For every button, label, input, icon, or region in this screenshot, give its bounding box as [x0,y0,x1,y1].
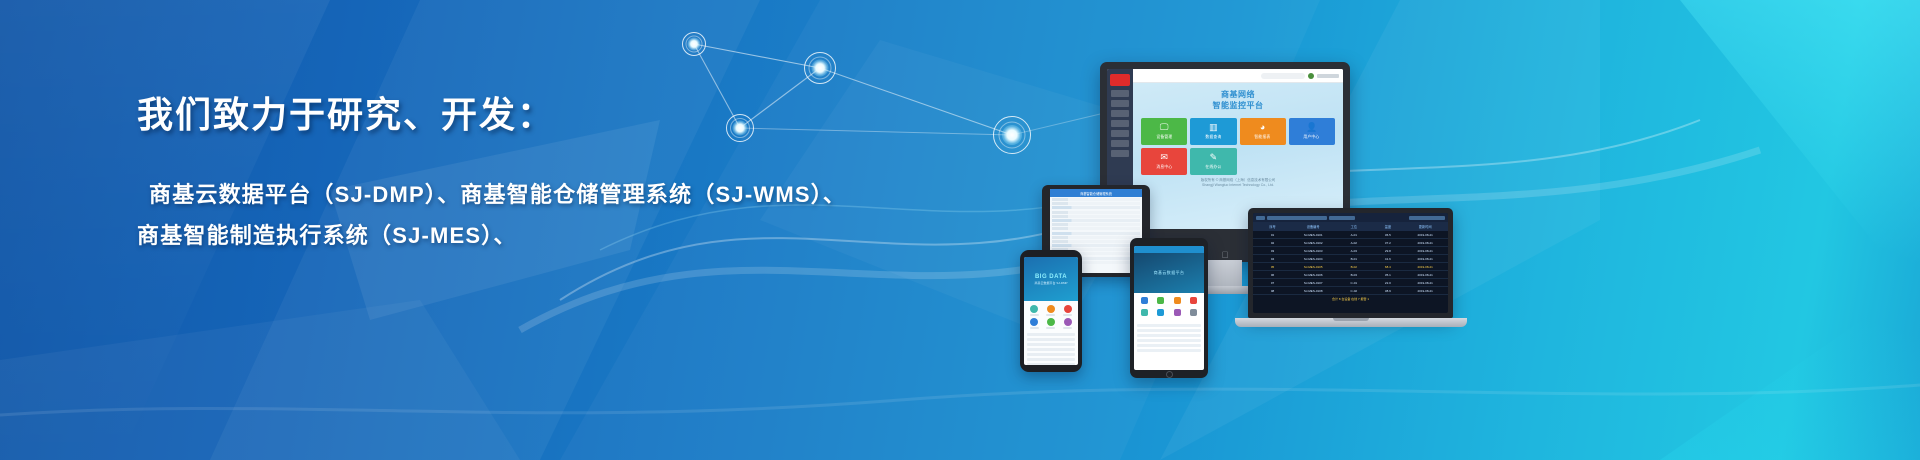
cell: 2019-08-21 [1405,265,1445,269]
search-input[interactable] [1261,73,1305,79]
cell: 2019-08-21 [1405,289,1445,293]
sidebar-item[interactable] [1111,110,1129,117]
phone-hero-title: BIG DATA [1035,274,1067,280]
phone-shortcut[interactable] [1027,318,1042,329]
phone-shortcut[interactable] [1027,305,1042,316]
mail-icon: ✉ [1160,153,1168,162]
tablet-portrait-mockup: 商基云数据平台 [1130,238,1208,378]
cell: B-01 [1337,257,1370,261]
imac-hero-title-line1: 商基网络 [1141,89,1335,100]
cell: C-01 [1337,281,1370,285]
sidebar-item[interactable] [1111,90,1129,97]
tablet-portrait-screen: 商基云数据平台 [1134,246,1204,370]
tile-data-query[interactable]: ▥ 数据查询 [1190,118,1236,145]
tile-label: 用户中心 [1304,134,1320,140]
list-item[interactable] [1027,363,1075,365]
phone-shortcut[interactable] [1044,305,1059,316]
cell: 41.6 [1371,257,1404,261]
tile-label: 在线办公 [1205,164,1221,170]
cell: A-01 [1337,233,1370,237]
cell: SJ-MES-0105 [1290,265,1336,269]
cell: B-03 [1337,273,1370,277]
table-row[interactable]: 07 SJ-MES-0107 C-01 22.0 2019-08-21 [1253,279,1448,287]
list-item[interactable] [1052,202,1140,205]
tile-message-center[interactable]: ✉ 消息中心 [1141,148,1187,175]
tile-label: 智能报表 [1255,134,1271,140]
cell: A-03 [1337,249,1370,253]
list-item[interactable] [1052,227,1140,230]
tablet-landscape-titlebar: 商基智能仓储管理系统 [1050,189,1142,197]
laptop-trackpad-notch [1333,318,1369,321]
cell: 36.5 [1371,233,1404,237]
tile-smart-report[interactable]: ◕ 智能报表 [1240,118,1286,145]
cell: 2019-08-21 [1405,257,1445,261]
cell: C-02 [1337,289,1370,293]
tile-label: 设备管理 [1156,134,1172,140]
list-item[interactable] [1052,232,1140,235]
cell: 05 [1256,265,1289,269]
tablet-shortcut[interactable] [1187,309,1202,319]
cell: SJ-MES-0108 [1290,289,1336,293]
column-header: 更新时间 [1405,224,1445,229]
phone-hero-subtitle: 商基云数据平台 SJ-DMP [1034,281,1067,285]
cell: 38.9 [1371,289,1404,293]
table-row[interactable]: 02 SJ-MES-0102 A-02 37.2 2019-08-21 [1253,239,1448,247]
laptop-status-note: 合计 8 台设备 在线 7 报警 1 [1253,295,1448,303]
imac-footer-line2: Shangji Wangluo Internet Technology Co.,… [1141,183,1335,188]
cell: 04 [1256,257,1289,261]
tile-device-management[interactable]: 🖵 设备管理 [1141,118,1187,145]
imac-topbar [1133,69,1343,83]
laptop-titlebar [1253,213,1448,222]
list-item[interactable] [1137,349,1201,352]
list-item[interactable] [1137,339,1201,342]
tablet-portrait-topbar [1134,246,1204,253]
phone-list [1024,333,1078,365]
table-row[interactable]: 05 SJ-MES-0105 B-02 68.4 2019-08-21 [1253,263,1448,271]
tablet-shortcut[interactable] [1170,297,1185,307]
sidebar-item[interactable] [1111,120,1129,127]
cell: 07 [1256,281,1289,285]
list-item[interactable] [1052,206,1140,209]
product-line-1: 商基云数据平台（SJ-DMP）、商基智能仓储管理系统（SJ-WMS）、 [137,174,846,215]
cell: 2019-08-21 [1405,273,1445,277]
page-title: 我们致力于研究、开发： [137,92,846,137]
phone-shortcut[interactable] [1060,305,1075,316]
device-mockup-cluster: 商基网络 智能监控平台 🖵 设备管理 ▥ 数据查询 [1000,40,1560,460]
tablet-shortcut[interactable] [1154,309,1169,319]
list-item[interactable] [1137,324,1201,327]
phone-shortcut[interactable] [1060,318,1075,329]
cell: SJ-MES-0102 [1290,241,1336,245]
list-item[interactable] [1027,358,1075,361]
sidebar-item[interactable] [1111,100,1129,107]
tablet-home-button[interactable] [1166,371,1173,378]
tablet-portrait-body: 商基云数据平台 [1130,238,1208,378]
tile-label: 数据查询 [1205,134,1221,140]
phone-mockup: BIG DATA 商基云数据平台 SJ-DMP [1020,250,1082,372]
imac-stand-neck [1208,260,1242,288]
list-item[interactable] [1052,223,1140,226]
list-item[interactable] [1137,329,1201,332]
product-list: 商基云数据平台（SJ-DMP）、商基智能仓储管理系统（SJ-WMS）、 商基智能… [137,174,846,256]
list-item[interactable] [1027,333,1075,336]
sidebar-item[interactable] [1111,140,1129,147]
cell: 22.0 [1371,281,1404,285]
edit-icon: ✎ [1210,153,1218,162]
table-row[interactable]: 08 SJ-MES-0108 C-02 38.9 2019-08-21 [1253,287,1448,295]
bg-facet-4 [0,300,520,460]
cell: A-02 [1337,241,1370,245]
tile-label: 消息中心 [1156,164,1172,170]
tablet-portrait-hero-title: 商基云数据平台 [1154,270,1185,276]
imac-footer: 版权所有 © 商基网络（上海）信息技术有限公司 Shangji Wangluo … [1141,175,1335,190]
list-item[interactable] [1052,219,1140,222]
list-item[interactable] [1027,343,1075,346]
imac-logo-icon [1110,74,1130,86]
laptop-base [1235,318,1467,327]
account-label [1317,74,1339,78]
cell: 2019-08-21 [1405,233,1445,237]
product-line-2: 商基智能制造执行系统（SJ-MES）、 [137,215,846,256]
cell: 08 [1256,289,1289,293]
table-row[interactable]: 06 SJ-MES-0106 B-03 35.1 2019-08-21 [1253,271,1448,279]
phone-body: BIG DATA 商基云数据平台 SJ-DMP [1020,250,1082,372]
imac-main: 商基网络 智能监控平台 🖵 设备管理 ▥ 数据查询 [1133,69,1343,229]
tablet-portrait-shortcut-grid [1134,293,1204,323]
tile-online-office[interactable]: ✎ 在线办公 [1190,148,1236,175]
list-item[interactable] [1027,338,1075,341]
cell: 29.8 [1371,249,1404,253]
network-node [681,31,707,57]
hero-banner: 我们致力于研究、开发： 商基云数据平台（SJ-DMP）、商基智能仓储管理系统（S… [0,0,1920,460]
imac-hero-title: 商基网络 智能监控平台 [1141,89,1335,111]
phone-hero: BIG DATA 商基云数据平台 SJ-DMP [1024,257,1078,301]
list-item[interactable] [1052,198,1140,201]
list-item[interactable] [1027,348,1075,351]
apple-logo-icon:  [1222,250,1229,260]
phone-shortcut-grid [1024,301,1078,333]
column-header: 设备编号 [1290,224,1336,229]
user-icon: 👤 [1306,123,1317,132]
cell: 03 [1256,249,1289,253]
imac-hero-title-line2: 智能监控平台 [1141,100,1335,111]
list-item[interactable] [1052,211,1140,214]
cell: 02 [1256,241,1289,245]
cell: 35.1 [1371,273,1404,277]
tablet-shortcut[interactable] [1187,297,1202,307]
sidebar-item[interactable] [1111,130,1129,137]
cell: 37.2 [1371,241,1404,245]
tablet-shortcut[interactable] [1137,309,1152,319]
tile-user-center[interactable]: 👤 用户中心 [1289,118,1335,145]
cell: 06 [1256,273,1289,277]
column-header: 序号 [1256,224,1289,229]
list-item[interactable] [1027,353,1075,356]
cell: 2019-08-21 [1405,249,1445,253]
banner-copy: 我们致力于研究、开发： 商基云数据平台（SJ-DMP）、商基智能仓储管理系统（S… [137,92,846,256]
cell: SJ-MES-0107 [1290,281,1336,285]
tablet-landscape-title: 商基智能仓储管理系统 [1080,191,1112,196]
list-item[interactable] [1052,240,1140,243]
cell: 2019-08-21 [1405,281,1445,285]
cell: B-02 [1337,265,1370,269]
table-header-row: 序号 设备编号 工位 温度 更新时间 [1253,222,1448,231]
sidebar-item[interactable] [1111,150,1129,157]
account-avatar[interactable] [1308,73,1314,79]
pie-chart-icon: ◕ [1260,123,1265,132]
phone-shortcut[interactable] [1044,318,1059,329]
cell: SJ-MES-0104 [1290,257,1336,261]
column-header: 工位 [1337,224,1370,229]
list-item[interactable] [1052,215,1140,218]
tablet-portrait-hero: 商基云数据平台 [1134,253,1204,293]
cell: SJ-MES-0103 [1290,249,1336,253]
list-item[interactable] [1052,236,1140,239]
laptop-lid: 序号 设备编号 工位 温度 更新时间 01 SJ-MES-0101 A-01 3… [1248,208,1453,318]
cell: 2019-08-21 [1405,241,1445,245]
bg-glow-bottom-right [1660,240,1920,460]
cell: 68.4 [1371,265,1404,269]
laptop-mockup: 序号 设备编号 工位 温度 更新时间 01 SJ-MES-0101 A-01 3… [1248,208,1453,338]
cell: 01 [1256,233,1289,237]
tablet-shortcut[interactable] [1137,297,1152,307]
bar-chart-icon: ▥ [1209,123,1218,132]
table-row[interactable]: 04 SJ-MES-0104 B-01 41.6 2019-08-21 [1253,255,1448,263]
network-node [803,51,837,85]
list-item[interactable] [1137,344,1201,347]
column-header: 温度 [1371,224,1404,229]
table-row[interactable]: 03 SJ-MES-0103 A-03 29.8 2019-08-21 [1253,247,1448,255]
laptop-screen: 序号 设备编号 工位 温度 更新时间 01 SJ-MES-0101 A-01 3… [1253,213,1448,313]
monitor-icon: 🖵 [1160,123,1169,132]
imac-tile-grid: 🖵 设备管理 ▥ 数据查询 ◕ 智能报表 [1141,118,1335,175]
cell: SJ-MES-0101 [1290,233,1336,237]
phone-screen: BIG DATA 商基云数据平台 SJ-DMP [1024,257,1078,365]
bg-glow-top-right [1620,0,1920,300]
tablet-shortcut[interactable] [1170,309,1185,319]
list-item[interactable] [1052,244,1140,247]
table-row[interactable]: 01 SJ-MES-0101 A-01 36.5 2019-08-21 [1253,231,1448,239]
list-item[interactable] [1137,334,1201,337]
cell: SJ-MES-0106 [1290,273,1336,277]
tablet-shortcut[interactable] [1154,297,1169,307]
tablet-portrait-list [1134,323,1204,355]
